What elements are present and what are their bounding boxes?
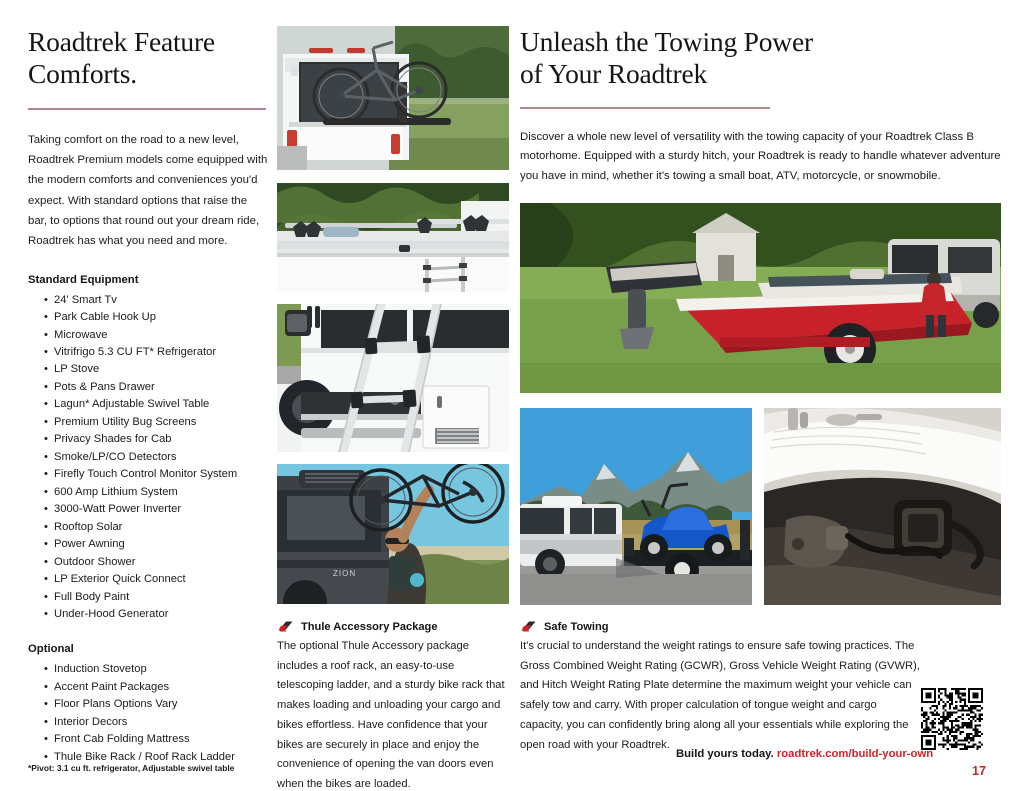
motorcycle-trailer-photo [520, 408, 752, 605]
right-column: Unleash the Towing Power of Your Roadtre… [520, 26, 1002, 187]
optional-item: Floor Plans Options Vary [28, 696, 266, 713]
roof-rack-photo [277, 183, 509, 292]
boat-towing-photo [520, 203, 1001, 393]
standard-equipment-item: Lagun* Adjustable Swivel Table [28, 396, 266, 413]
standard-equipment-item: LP Stove [28, 361, 266, 378]
hitch-receiver-photo [764, 408, 1001, 605]
standard-equipment-list: 24' Smart TvPark Cable Hook UpMicrowaveV… [28, 292, 266, 624]
roadtrek-chevron-mark-icon [277, 620, 294, 634]
rear-bike-rack-photo [277, 26, 509, 170]
towing-title-line-1: Unleash the Towing Power [520, 26, 813, 57]
roadtrek-chevron-mark-icon [520, 620, 537, 634]
optional-list: Induction StovetopAccent Paint PackagesF… [28, 661, 266, 766]
standard-equipment-item: Premium Utility Bug Screens [28, 414, 266, 431]
telescoping-ladder-photo [277, 304, 509, 452]
left-column: Roadtrek Feature Comforts. Taking comfor… [28, 26, 266, 766]
footnote: *Pivot: 3.1 cu ft. refrigerator, Adjusta… [28, 763, 308, 773]
standard-equipment-item: Under-Hood Generator [28, 606, 266, 623]
standard-equipment-item: Pots & Pans Drawer [28, 379, 266, 396]
standard-equipment-item: Smoke/LP/CO Detectors [28, 449, 266, 466]
page-number: 17 [972, 764, 986, 778]
qr-code[interactable] [921, 688, 983, 750]
bike-lift-photo: ZION [277, 464, 509, 604]
standard-equipment-item: Full Body Paint [28, 589, 266, 606]
cta-url-link[interactable]: roadtrek.com/build-your-own [777, 748, 933, 760]
qr-code-image [921, 688, 983, 750]
standard-equipment-item: Power Awning [28, 536, 266, 553]
standard-equipment-item: 600 Amp Lithium System [28, 484, 266, 501]
standard-equipment-item: 3000-Watt Power Inverter [28, 501, 266, 518]
left-intro-paragraph: Taking comfort on the road to a new leve… [28, 130, 268, 252]
thule-caption: Thule Accessory Package The optional Thu… [277, 620, 509, 791]
standard-equipment-item: Rooftop Solar [28, 519, 266, 536]
standard-equipment-item: Firefly Touch Control Monitor System [28, 466, 266, 483]
standard-equipment-block: Standard Equipment 24' Smart TvPark Cabl… [28, 274, 266, 624]
standard-equipment-item: Microwave [28, 327, 266, 344]
optional-item: Induction Stovetop [28, 661, 266, 678]
towing-title: Unleash the Towing Power of Your Roadtre… [520, 26, 1002, 90]
safe-towing-caption: Safe Towing It's crucial to understand t… [520, 620, 920, 755]
standard-equipment-item: 24' Smart Tv [28, 292, 266, 309]
standard-equipment-item: Outdoor Shower [28, 554, 266, 571]
safe-towing-caption-header: Safe Towing [520, 620, 920, 634]
optional-title: Optional [28, 643, 266, 655]
cta-text: Build yours today. [676, 748, 774, 760]
thule-caption-header: Thule Accessory Package [277, 620, 509, 634]
standard-equipment-item: Privacy Shades for Cab [28, 431, 266, 448]
optional-item: Interior Decors [28, 714, 266, 731]
safe-towing-caption-title: Safe Towing [544, 621, 609, 633]
optional-item: Front Cab Folding Mattress [28, 731, 266, 748]
towing-title-line-2: of Your Roadtrek [520, 58, 707, 89]
title-divider [28, 108, 266, 110]
standard-equipment-item: Vitrifrigo 5.3 CU FT* Refrigerator [28, 344, 266, 361]
thule-caption-title: Thule Accessory Package [301, 621, 437, 633]
svg-text:ZION: ZION [333, 569, 356, 578]
page-title: Roadtrek Feature Comforts. [28, 26, 266, 90]
optional-item: Accent Paint Packages [28, 679, 266, 696]
cta-line: Build yours today. roadtrek.com/build-yo… [676, 748, 933, 760]
safe-towing-caption-body: It's crucial to understand the weight ra… [520, 637, 920, 755]
standard-equipment-item: Park Cable Hook Up [28, 309, 266, 326]
standard-equipment-item: LP Exterior Quick Connect [28, 571, 266, 588]
standard-equipment-title: Standard Equipment [28, 274, 266, 286]
optional-block: Optional Induction StovetopAccent Paint … [28, 643, 266, 766]
towing-title-divider [520, 107, 770, 109]
brochure-page: Roadtrek Feature Comforts. Taking comfor… [0, 0, 1024, 791]
towing-intro-paragraph: Discover a whole new level of versatilit… [520, 128, 1004, 187]
thule-caption-body: The optional Thule Accessory package inc… [277, 637, 509, 791]
